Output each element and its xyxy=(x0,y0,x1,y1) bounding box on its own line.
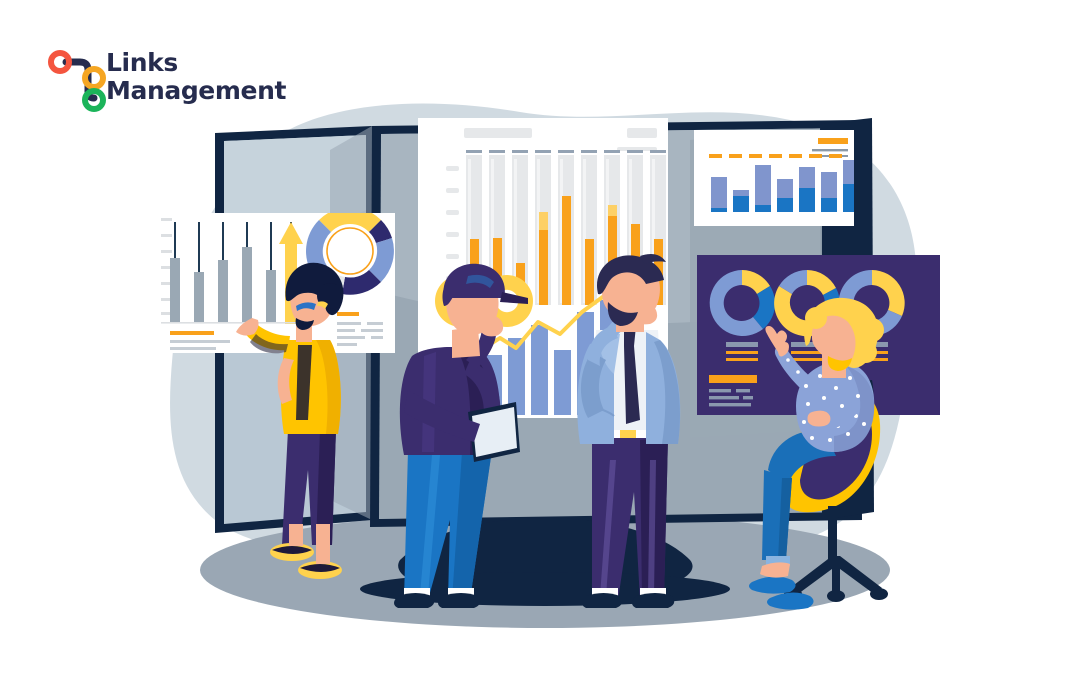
sheet-header-bar xyxy=(464,128,532,138)
kpi-donut-1-legend xyxy=(726,342,758,361)
links-nodes-icon xyxy=(44,48,114,112)
brand-name-line1: Links xyxy=(106,50,286,75)
node-orange xyxy=(85,69,103,87)
left-sheet-accent-bar xyxy=(170,331,214,335)
node-red xyxy=(51,53,69,71)
brand-name-line2: Management xyxy=(106,78,286,103)
donut-legend-accent xyxy=(337,312,359,316)
right-monitor-sheet xyxy=(694,130,859,226)
brand-wordmark: Links Management xyxy=(106,50,286,103)
right-sheet-accent-bar xyxy=(818,138,848,144)
sheet-header-bar-small xyxy=(627,128,657,138)
